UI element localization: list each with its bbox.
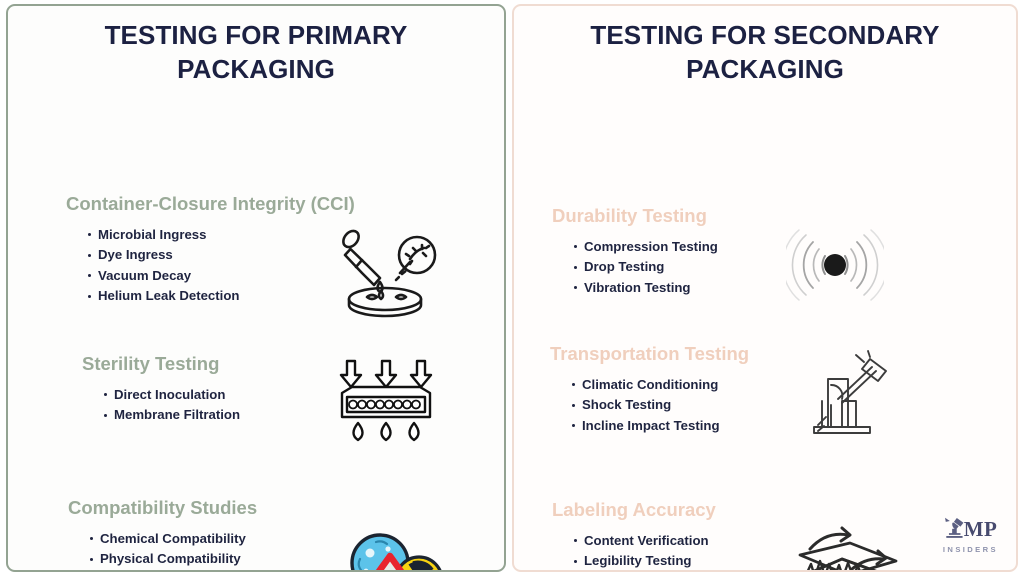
section-heading-labeling: Labeling Accuracy: [552, 499, 716, 521]
list-item: Physical Compatibility: [90, 549, 257, 569]
brand-logo: MP INSIDERS: [943, 515, 998, 554]
list-item: Vibration Testing: [574, 278, 718, 298]
list-item: Shock Testing: [572, 395, 749, 415]
panel-title-secondary: TESTING FOR SECONDARY PACKAGING: [514, 6, 1016, 87]
panel-title-primary: TESTING FOR PRIMARY PACKAGING: [8, 6, 504, 87]
bullet-list-sterility: Direct Inoculation Membrane Filtration: [82, 385, 240, 426]
membrane-filter-droplets-icon: [330, 359, 442, 445]
bullet-list-durability: Compression Testing Drop Testing Vibrati…: [552, 237, 718, 298]
bullet-list-cci: Microbial Ingress Dye Ingress Vacuum Dec…: [66, 225, 355, 307]
logo-row: MP: [944, 515, 997, 544]
section-compatibility-studies: Compatibility Studies Chemical Compatibi…: [68, 497, 257, 572]
section-labeling-accuracy: Labeling Accuracy Content Verification L…: [552, 499, 716, 572]
section-heading-durability: Durability Testing: [552, 205, 718, 227]
panel-secondary-packaging: TESTING FOR SECONDARY PACKAGING Durabili…: [512, 4, 1018, 572]
infographic-canvas: TESTING FOR PRIMARY PACKAGING Container-…: [0, 0, 1024, 576]
logo-wordmark: MP: [964, 519, 997, 540]
section-transportation-testing: Transportation Testing Climatic Conditio…: [550, 343, 749, 436]
section-heading-sterility: Sterility Testing: [82, 353, 240, 375]
list-item: Dye Ingress: [88, 245, 355, 265]
logo-tagline: INSIDERS: [943, 546, 998, 554]
list-item: Biological Compatibility: [90, 570, 257, 572]
bullet-list-compatibility: Chemical Compatibility Physical Compatib…: [68, 529, 257, 572]
pipette-petri-dish-icon: [338, 227, 444, 319]
section-heading-transportation: Transportation Testing: [550, 343, 749, 365]
list-item: Legibility Testing: [574, 551, 716, 571]
impact-tester-machine-icon: [798, 345, 888, 439]
list-item: Compression Testing: [574, 237, 718, 257]
list-item: Chemical Compatibility: [90, 529, 257, 549]
section-container-closure-integrity: Container-Closure Integrity (CCI) Microb…: [66, 193, 355, 307]
list-item: Climatic Conditioning: [572, 375, 749, 395]
bullet-list-labeling: Content Verification Legibility Testing …: [552, 531, 716, 572]
section-heading-compatibility: Compatibility Studies: [68, 497, 257, 519]
list-item: Incline Impact Testing: [572, 416, 749, 436]
list-item: Helium Leak Detection: [88, 286, 355, 306]
section-heading-cci: Container-Closure Integrity (CCI): [66, 193, 355, 215]
hazard-warning-radiation-icon: [336, 525, 444, 572]
list-item: Direct Inoculation: [104, 385, 240, 405]
bullet-list-transportation: Climatic Conditioning Shock Testing Incl…: [550, 375, 749, 436]
list-item: Drop Testing: [574, 257, 718, 277]
list-item: Content Verification: [574, 531, 716, 551]
label-peel-test-icon: [784, 525, 900, 572]
list-item: Microbial Ingress: [88, 225, 355, 245]
section-sterility-testing: Sterility Testing Direct Inoculation Mem…: [82, 353, 240, 426]
section-durability-testing: Durability Testing Compression Testing D…: [552, 205, 718, 298]
list-item: Vacuum Decay: [88, 266, 355, 286]
panel-primary-packaging: TESTING FOR PRIMARY PACKAGING Container-…: [6, 4, 506, 572]
vibration-waves-icon: [786, 227, 884, 303]
list-item: Membrane Filtration: [104, 405, 240, 425]
